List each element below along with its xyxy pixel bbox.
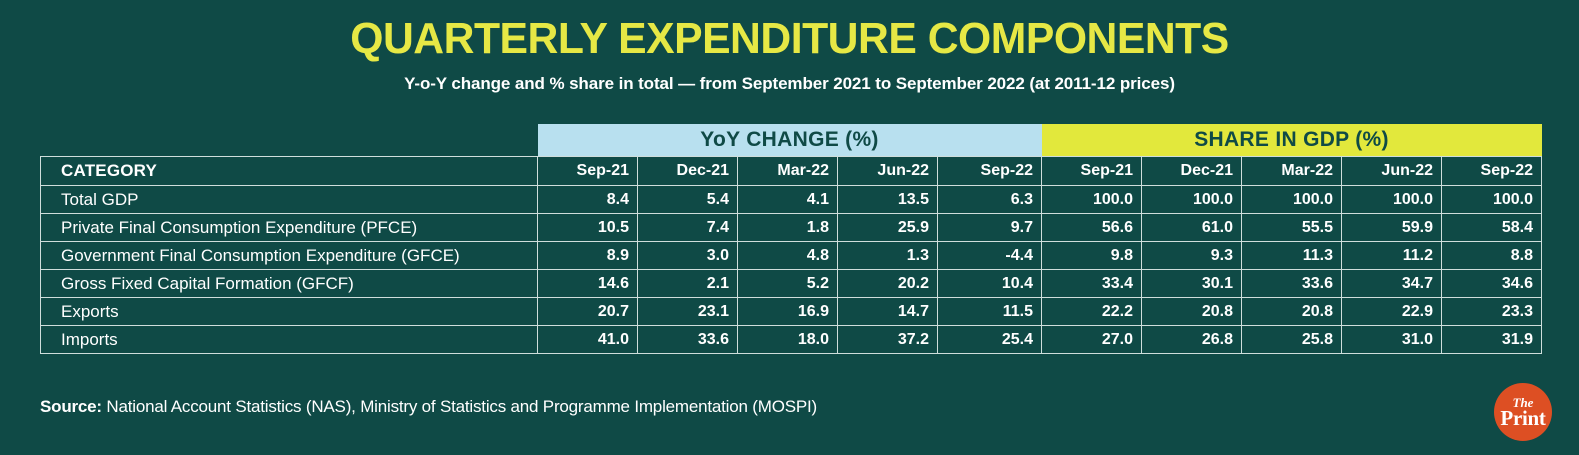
cell-yoy-value: 37.2 bbox=[838, 326, 938, 354]
header-block: QUARTERLY EXPENDITURE COMPONENTS Y-o-Y c… bbox=[0, 0, 1579, 94]
cell-share-value: 100.0 bbox=[1042, 186, 1142, 214]
cell-share-value: 59.9 bbox=[1342, 214, 1442, 242]
footer: Source: National Account Statistics (NAS… bbox=[40, 397, 1539, 417]
cell-yoy-value: 10.4 bbox=[938, 270, 1042, 298]
cell-yoy-value: 20.2 bbox=[838, 270, 938, 298]
cell-share-value: 8.8 bbox=[1442, 242, 1542, 270]
cell-share-value: 11.2 bbox=[1342, 242, 1442, 270]
cell-yoy-value: 23.1 bbox=[638, 298, 738, 326]
cell-yoy-value: 16.9 bbox=[738, 298, 838, 326]
cell-yoy-value: 1.3 bbox=[838, 242, 938, 270]
cell-share-value: 22.9 bbox=[1342, 298, 1442, 326]
column-header-yoy-dec-21: Dec-21 bbox=[638, 157, 738, 186]
cell-share-value: 11.3 bbox=[1242, 242, 1342, 270]
cell-share-value: 55.5 bbox=[1242, 214, 1342, 242]
data-table-container: YoY CHANGE (%) SHARE IN GDP (%) CATEGORY… bbox=[40, 124, 1541, 354]
row-category-label: Private Final Consumption Expenditure (P… bbox=[41, 214, 538, 242]
cell-yoy-value: 2.1 bbox=[638, 270, 738, 298]
cell-share-value: 27.0 bbox=[1042, 326, 1142, 354]
row-category-label: Exports bbox=[41, 298, 538, 326]
cell-share-value: 33.6 bbox=[1242, 270, 1342, 298]
column-header-yoy-sep-21: Sep-21 bbox=[538, 157, 638, 186]
cell-yoy-value: 6.3 bbox=[938, 186, 1042, 214]
cell-share-value: 25.8 bbox=[1242, 326, 1342, 354]
cell-yoy-value: 41.0 bbox=[538, 326, 638, 354]
row-category-label: Government Final Consumption Expenditure… bbox=[41, 242, 538, 270]
cell-yoy-value: 3.0 bbox=[638, 242, 738, 270]
table-row: Government Final Consumption Expenditure… bbox=[41, 242, 1542, 270]
column-header-yoy-jun-22: Jun-22 bbox=[838, 157, 938, 186]
theprint-logo: The Print bbox=[1494, 383, 1552, 441]
column-header-yoy-mar-22: Mar-22 bbox=[738, 157, 838, 186]
cell-share-value: 34.6 bbox=[1442, 270, 1542, 298]
column-header-share-sep-22: Sep-22 bbox=[1442, 157, 1542, 186]
cell-yoy-value: 20.7 bbox=[538, 298, 638, 326]
column-header-share-mar-22: Mar-22 bbox=[1242, 157, 1342, 186]
column-header-row: CATEGORY Sep-21 Dec-21 Mar-22 Jun-22 Sep… bbox=[41, 157, 1542, 186]
group-header-spacer bbox=[41, 124, 538, 157]
cell-share-value: 100.0 bbox=[1242, 186, 1342, 214]
cell-yoy-value: 14.6 bbox=[538, 270, 638, 298]
cell-share-value: 22.2 bbox=[1042, 298, 1142, 326]
cell-yoy-value: 14.7 bbox=[838, 298, 938, 326]
group-header-row: YoY CHANGE (%) SHARE IN GDP (%) bbox=[41, 124, 1542, 157]
cell-yoy-value: 1.8 bbox=[738, 214, 838, 242]
cell-share-value: 26.8 bbox=[1142, 326, 1242, 354]
cell-yoy-value: 25.4 bbox=[938, 326, 1042, 354]
infographic-root: QUARTERLY EXPENDITURE COMPONENTS Y-o-Y c… bbox=[0, 0, 1579, 455]
cell-share-value: 9.3 bbox=[1142, 242, 1242, 270]
cell-yoy-value: 33.6 bbox=[638, 326, 738, 354]
cell-yoy-value: 25.9 bbox=[838, 214, 938, 242]
cell-share-value: 58.4 bbox=[1442, 214, 1542, 242]
cell-share-value: 31.9 bbox=[1442, 326, 1542, 354]
cell-yoy-value: 4.1 bbox=[738, 186, 838, 214]
cell-yoy-value: -4.4 bbox=[938, 242, 1042, 270]
cell-share-value: 20.8 bbox=[1242, 298, 1342, 326]
row-category-label: Total GDP bbox=[41, 186, 538, 214]
cell-yoy-value: 13.5 bbox=[838, 186, 938, 214]
source-label: Source: bbox=[40, 397, 102, 416]
cell-yoy-value: 8.9 bbox=[538, 242, 638, 270]
cell-share-value: 33.4 bbox=[1042, 270, 1142, 298]
table-row: Gross Fixed Capital Formation (GFCF) 14.… bbox=[41, 270, 1542, 298]
cell-yoy-value: 11.5 bbox=[938, 298, 1042, 326]
cell-share-value: 30.1 bbox=[1142, 270, 1242, 298]
cell-yoy-value: 18.0 bbox=[738, 326, 838, 354]
page-title: QUARTERLY EXPENDITURE COMPONENTS bbox=[24, 16, 1556, 62]
cell-share-value: 9.8 bbox=[1042, 242, 1142, 270]
column-header-share-jun-22: Jun-22 bbox=[1342, 157, 1442, 186]
cell-yoy-value: 10.5 bbox=[538, 214, 638, 242]
table-row: Private Final Consumption Expenditure (P… bbox=[41, 214, 1542, 242]
cell-share-value: 61.0 bbox=[1142, 214, 1242, 242]
cell-share-value: 100.0 bbox=[1142, 186, 1242, 214]
column-header-share-sep-21: Sep-21 bbox=[1042, 157, 1142, 186]
column-header-yoy-sep-22: Sep-22 bbox=[938, 157, 1042, 186]
page-subtitle: Y-o-Y change and % share in total — from… bbox=[0, 62, 1579, 94]
source-text: National Account Statistics (NAS), Minis… bbox=[102, 397, 817, 416]
column-header-share-dec-21: Dec-21 bbox=[1142, 157, 1242, 186]
cell-yoy-value: 8.4 bbox=[538, 186, 638, 214]
cell-share-value: 31.0 bbox=[1342, 326, 1442, 354]
table-row: Imports 41.0 33.6 18.0 37.2 25.4 27.0 26… bbox=[41, 326, 1542, 354]
cell-yoy-value: 5.4 bbox=[638, 186, 738, 214]
table-body: Total GDP 8.4 5.4 4.1 13.5 6.3 100.0 100… bbox=[41, 186, 1542, 354]
cell-yoy-value: 4.8 bbox=[738, 242, 838, 270]
table-head: YoY CHANGE (%) SHARE IN GDP (%) CATEGORY… bbox=[41, 124, 1542, 186]
group-header-yoy-change: YoY CHANGE (%) bbox=[538, 124, 1042, 157]
cell-yoy-value: 9.7 bbox=[938, 214, 1042, 242]
cell-share-value: 100.0 bbox=[1442, 186, 1542, 214]
cell-share-value: 100.0 bbox=[1342, 186, 1442, 214]
cell-share-value: 34.7 bbox=[1342, 270, 1442, 298]
table-row: Total GDP 8.4 5.4 4.1 13.5 6.3 100.0 100… bbox=[41, 186, 1542, 214]
logo-print-text: Print bbox=[1500, 408, 1545, 429]
source-line: Source: National Account Statistics (NAS… bbox=[40, 397, 817, 417]
group-header-share-in-gdp: SHARE IN GDP (%) bbox=[1042, 124, 1542, 157]
table-row: Exports 20.7 23.1 16.9 14.7 11.5 22.2 20… bbox=[41, 298, 1542, 326]
row-category-label: Gross Fixed Capital Formation (GFCF) bbox=[41, 270, 538, 298]
column-header-category: CATEGORY bbox=[41, 157, 538, 186]
cell-share-value: 20.8 bbox=[1142, 298, 1242, 326]
row-category-label: Imports bbox=[41, 326, 538, 354]
expenditure-table: YoY CHANGE (%) SHARE IN GDP (%) CATEGORY… bbox=[40, 124, 1542, 354]
cell-yoy-value: 5.2 bbox=[738, 270, 838, 298]
cell-share-value: 56.6 bbox=[1042, 214, 1142, 242]
cell-share-value: 23.3 bbox=[1442, 298, 1542, 326]
cell-yoy-value: 7.4 bbox=[638, 214, 738, 242]
